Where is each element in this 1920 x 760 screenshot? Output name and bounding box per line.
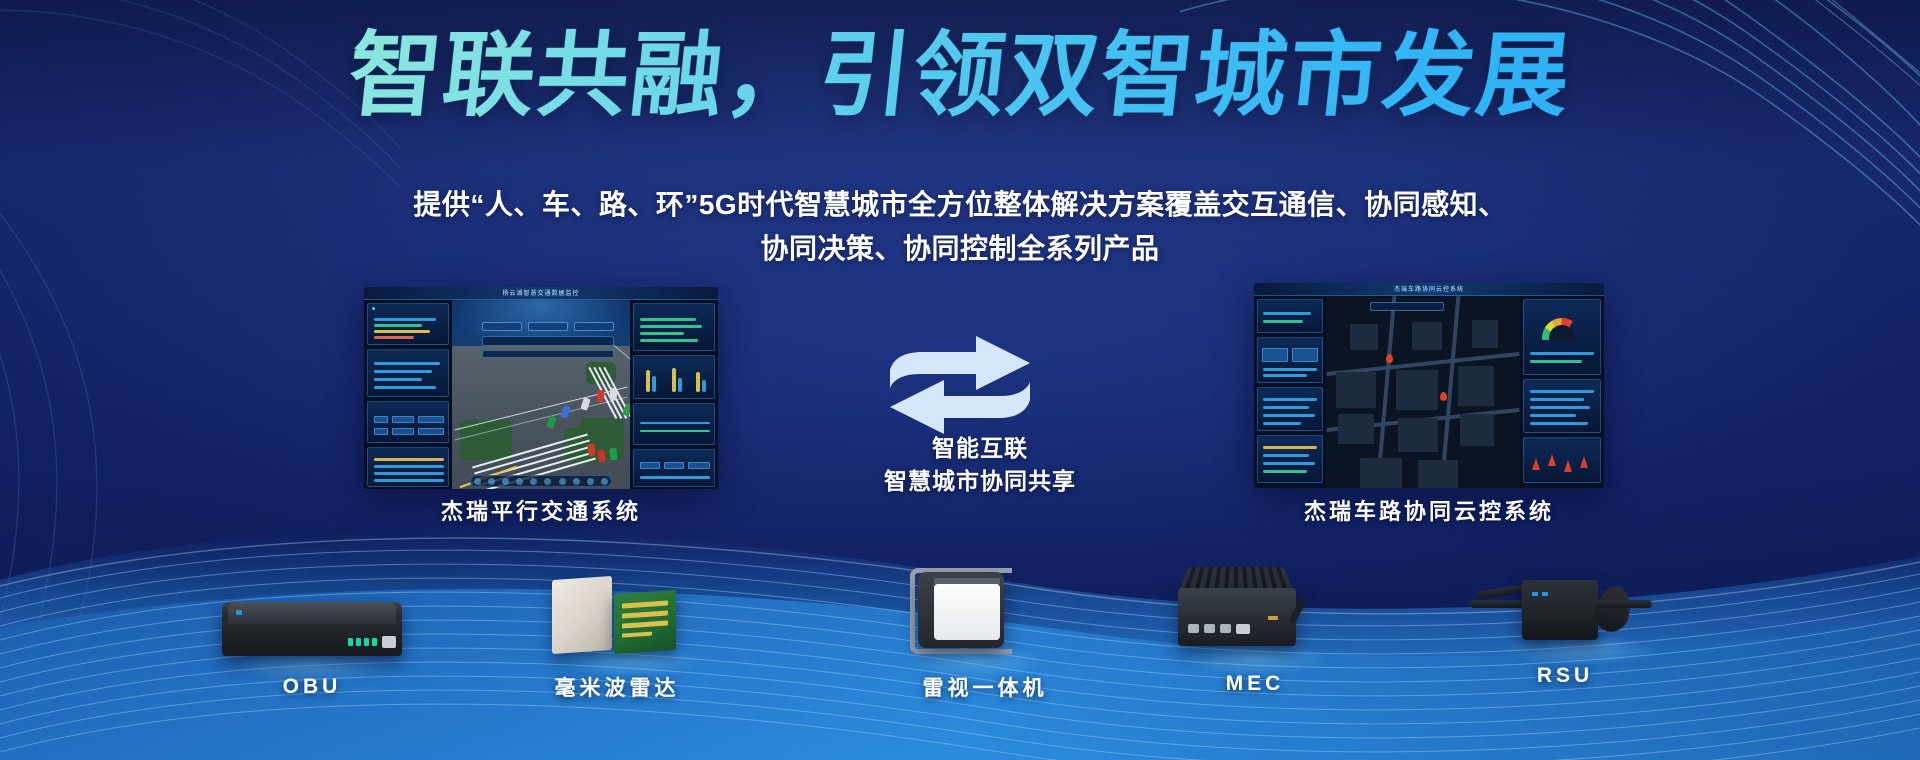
product-rsu[interactable]: [1470, 570, 1660, 660]
vehicle: [610, 388, 618, 400]
map-block: [1338, 414, 1374, 444]
right-dash-left-stats: [1257, 337, 1323, 383]
map-block: [1350, 324, 1378, 350]
product-mec[interactable]: [1178, 578, 1328, 668]
right-dashboard-header: 杰瑞车路协同云控系统: [1254, 283, 1604, 296]
left-system-screenshot[interactable]: 杨云湖智慧交通数据监控: [364, 287, 718, 489]
product-label-mec: MEC: [1160, 672, 1350, 696]
bar-marker: [1580, 456, 1588, 468]
toolbar-icon[interactable]: [516, 478, 523, 485]
status-led: [356, 638, 361, 646]
panel-title: ■: [372, 306, 376, 312]
obu-chassis: [222, 602, 402, 656]
map-block: [1360, 458, 1402, 488]
mec-port: [1236, 624, 1250, 634]
scene-button[interactable]: [574, 322, 614, 331]
subtitle-line-2: 协同决策、协同控制全系列产品: [0, 227, 1920, 271]
left-panel-stat: ■: [367, 303, 449, 345]
product-mmwave-radar[interactable]: [552, 578, 682, 668]
left-panel-table: [367, 447, 449, 487]
right-dash-metrics: [1523, 379, 1601, 433]
rsu-antenna-left-upper: [1476, 585, 1525, 600]
product-label-mmwave-radar: 毫米波雷达: [522, 672, 712, 702]
scene-button[interactable]: [528, 322, 568, 331]
scene-button[interactable]: [482, 322, 522, 331]
vehicle: [597, 450, 606, 463]
page-subtitle: 提供“人、车、路、环”5G时代智慧城市全方位整体解决方案覆盖交互通信、协同感知、…: [0, 183, 1920, 271]
right-dash-chart: [1523, 437, 1601, 483]
mec-antenna-connector: [1268, 616, 1278, 620]
product-label-obu: OBU: [222, 675, 402, 699]
toolbar-icon[interactable]: [544, 478, 551, 485]
right-dash-left-panel: [1257, 299, 1323, 333]
banner-stage: 智联共融，引领双智城市发展 提供“人、车、路、环”5G时代智慧城市全方位整体解决…: [0, 0, 1920, 760]
power-led: [236, 610, 242, 615]
right-dash-left-footer: [1257, 435, 1323, 483]
page-title: 智联共融，引领双智城市发展: [0, 26, 1920, 125]
exchange-arrows-icon: [880, 330, 1040, 440]
center-caption: 智能互联 智慧城市协同共享: [820, 432, 1140, 498]
mec-port: [1204, 624, 1215, 633]
vehicle: [587, 444, 596, 457]
intersection-3d-view: [452, 300, 630, 489]
toolbar-icon[interactable]: [488, 478, 495, 485]
heatsink-fins: [1179, 567, 1292, 589]
toolbar-icon[interactable]: [573, 478, 580, 485]
right-dash-left-list: [1257, 387, 1323, 431]
right-system-screenshot[interactable]: 杰瑞车路协同云控系统: [1254, 283, 1604, 488]
right-panel-stat: [633, 303, 715, 351]
radar-pcb: [614, 590, 676, 654]
status-led: [372, 638, 377, 646]
rsu-led: [1532, 592, 1538, 596]
right-panel-footer: [633, 449, 715, 487]
right-dashboard-title: 杰瑞车路协同云控系统: [1254, 284, 1604, 293]
rsu-led: [1542, 592, 1548, 596]
rsu-chassis: [1522, 580, 1598, 640]
speed-gauge: [1542, 318, 1582, 340]
map-block: [1412, 322, 1442, 350]
toolbar-icon[interactable]: [559, 478, 566, 485]
map-block: [1418, 460, 1458, 488]
city-map-view: [1326, 296, 1520, 488]
right-system-caption: 杰瑞车路协同云控系统: [1254, 494, 1604, 526]
obu-top-face: [228, 602, 396, 624]
bar-marker: [1564, 460, 1572, 472]
vehicle: [609, 448, 618, 461]
left-system-caption: 杰瑞平行交通系统: [364, 494, 718, 526]
right-dashboard: 杰瑞车路协同云控系统: [1254, 283, 1604, 488]
toolbar-icon[interactable]: [587, 478, 594, 485]
map-block: [1336, 372, 1376, 408]
right-panel-trend: [633, 403, 715, 445]
map-block: [1458, 366, 1494, 406]
status-led: [364, 638, 369, 646]
center-caption-line-2: 智慧城市协同共享: [820, 465, 1140, 498]
camera-lens-panel: [934, 584, 1000, 640]
map-pin[interactable]: [1386, 354, 1393, 363]
rsu-antenna-right-rod: [1596, 600, 1652, 608]
toolbar-icon[interactable]: [474, 478, 481, 485]
subtitle-line-1: 提供“人、车、路、环”5G时代智慧城市全方位整体解决方案覆盖交互通信、协同感知、: [0, 183, 1920, 227]
map-block: [1460, 414, 1494, 446]
mec-port: [1220, 624, 1231, 633]
right-panel-bars: [633, 355, 715, 399]
left-dashboard-title: 杨云湖智慧交通数据监控: [364, 288, 718, 297]
product-obu[interactable]: [222, 588, 402, 668]
map-block: [1472, 320, 1498, 348]
product-label-rsu: RSU: [1470, 664, 1660, 688]
mec-port: [1188, 624, 1199, 633]
left-panel-controls: [367, 401, 449, 443]
left-dashboard: 杨云湖智慧交通数据监控: [364, 287, 718, 489]
scene-filter-bar[interactable]: [482, 350, 614, 358]
toolbar-icon[interactable]: [530, 478, 537, 485]
camera-housing: [918, 572, 1004, 648]
bar-marker: [1548, 454, 1556, 466]
toolbar-icon[interactable]: [601, 478, 608, 485]
scene-search-input[interactable]: [482, 336, 614, 346]
mec-chassis: [1178, 588, 1296, 646]
rsu-antenna-left: [1470, 600, 1530, 608]
center-caption-line-1: 智能互联: [820, 432, 1140, 465]
status-led: [348, 638, 353, 646]
bar-marker: [1532, 458, 1540, 470]
product-label-camera-radar-unit: 雷视一体机: [890, 672, 1080, 702]
left-panel-list: [367, 349, 449, 397]
map-pin[interactable]: [1440, 392, 1447, 401]
left-dashboard-header: 杨云湖智慧交通数据监控: [364, 287, 718, 300]
right-dash-gauge-panel: [1523, 299, 1601, 375]
product-camera-radar-unit[interactable]: [910, 572, 1030, 668]
map-block: [1396, 370, 1438, 410]
scene-toolbar[interactable]: [470, 475, 612, 487]
ethernet-port: [382, 636, 396, 648]
radar-housing: [552, 576, 612, 654]
vehicle: [596, 390, 604, 403]
toolbar-icon[interactable]: [502, 478, 509, 485]
map-search-input[interactable]: [1370, 302, 1444, 311]
map-block: [1398, 418, 1438, 452]
